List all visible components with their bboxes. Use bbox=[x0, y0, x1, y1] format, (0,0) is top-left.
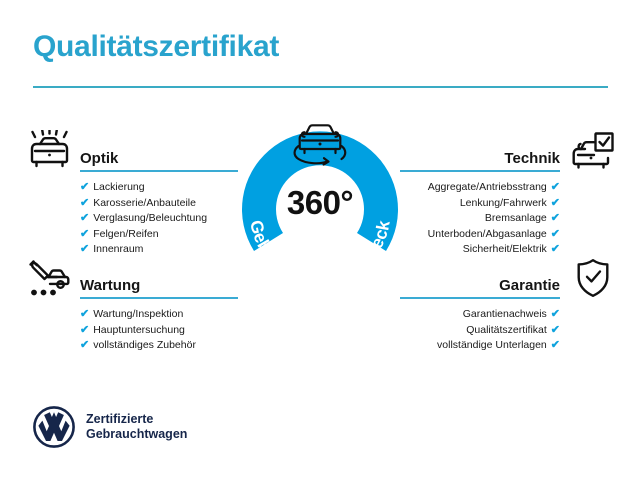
check-icon: ✔ bbox=[551, 339, 560, 351]
list-item: ✔Wartung/Inspektion bbox=[80, 307, 250, 323]
footer-brand-text: Zertifizierte Gebrauchtwagen bbox=[86, 412, 187, 442]
list-item-label: Lackierung bbox=[93, 181, 144, 193]
badge-value: 360° bbox=[228, 184, 412, 222]
list-item-label: Verglasung/Beleuchtung bbox=[93, 212, 207, 224]
volkswagen-logo bbox=[33, 406, 75, 448]
list-item: ✔Hauptuntersuchung bbox=[80, 323, 250, 339]
car-rotate-360-icon bbox=[286, 112, 354, 170]
section-title-garantie: Garantie bbox=[499, 277, 560, 294]
section-title-technik: Technik bbox=[504, 150, 560, 167]
footer-line-1: Zertifizierte bbox=[86, 412, 187, 427]
list-item-label: Lenkung/Fahrwerk bbox=[460, 197, 547, 209]
list-item-label: Wartung/Inspektion bbox=[93, 308, 183, 320]
list-item-label: Bremsanlage bbox=[485, 212, 547, 224]
section-optik: Optik ✔Lackierung ✔Karosserie/Anbauteile… bbox=[0, 146, 250, 258]
section-divider-optik bbox=[80, 170, 238, 172]
list-item: Bremsanlage✔ bbox=[390, 211, 560, 227]
section-wartung: Wartung ✔Wartung/Inspektion ✔Hauptunters… bbox=[0, 273, 250, 354]
checklist-garantie: Garantienachweis✔ Qualitätszertifikat✔ v… bbox=[390, 307, 560, 354]
list-item: ✔Lackierung bbox=[80, 180, 250, 196]
check-icon: ✔ bbox=[80, 228, 89, 240]
section-divider-wartung bbox=[80, 297, 238, 299]
list-item: vollständige Unterlagen✔ bbox=[390, 338, 560, 354]
check-icon: ✔ bbox=[80, 324, 89, 336]
check-icon: ✔ bbox=[80, 212, 89, 224]
check-icon: ✔ bbox=[80, 197, 89, 209]
list-item-label: Karosserie/Anbauteile bbox=[93, 197, 196, 209]
certificate-page: Qualitätszertifikat Optik ✔Lackie bbox=[0, 0, 640, 480]
list-item: ✔vollständiges Zubehör bbox=[80, 338, 250, 354]
section-garantie: Garantie Garantienachweis✔ Qualitätszert… bbox=[390, 273, 640, 354]
list-item: Sicherheit/Elektrik✔ bbox=[390, 242, 560, 258]
check-icon: ✔ bbox=[551, 181, 560, 193]
check-icon: ✔ bbox=[551, 197, 560, 209]
check-icon: ✔ bbox=[80, 339, 89, 351]
check-icon: ✔ bbox=[551, 308, 560, 320]
gebrauchtwagen-check-badge: Gebrauchtwagen-Check 360° bbox=[228, 122, 412, 306]
list-item-label: vollständiges Zubehör bbox=[93, 339, 196, 351]
section-technik: Technik Aggregate/Antriebsstrang✔ Lenkun… bbox=[390, 146, 640, 258]
list-item-label: Qualitätszertifikat bbox=[466, 324, 547, 336]
checklist-optik: ✔Lackierung ✔Karosserie/Anbauteile ✔Verg… bbox=[80, 180, 250, 258]
list-item-label: vollständige Unterlagen bbox=[437, 339, 547, 351]
checklist-technik: Aggregate/Antriebsstrang✔ Lenkung/Fahrwe… bbox=[390, 180, 560, 258]
list-item-label: Felgen/Reifen bbox=[93, 228, 158, 240]
page-title: Qualitätszertifikat bbox=[33, 30, 279, 63]
list-item: ✔Karosserie/Anbauteile bbox=[80, 196, 250, 212]
check-icon: ✔ bbox=[551, 212, 560, 224]
list-item-label: Hauptuntersuchung bbox=[93, 324, 185, 336]
check-icon: ✔ bbox=[551, 243, 560, 255]
list-item: Aggregate/Antriebsstrang✔ bbox=[390, 180, 560, 196]
check-icon: ✔ bbox=[551, 324, 560, 336]
list-item-label: Garantienachweis bbox=[463, 308, 547, 320]
list-item: Qualitätszertifikat✔ bbox=[390, 323, 560, 339]
section-divider-garantie bbox=[400, 297, 560, 299]
list-item: Unterboden/Abgasanlage✔ bbox=[390, 227, 560, 243]
check-icon: ✔ bbox=[551, 228, 560, 240]
check-icon: ✔ bbox=[80, 243, 89, 255]
footer-line-2: Gebrauchtwagen bbox=[86, 427, 187, 442]
checklist-wartung: ✔Wartung/Inspektion ✔Hauptuntersuchung ✔… bbox=[80, 307, 250, 354]
check-icon: ✔ bbox=[80, 181, 89, 193]
list-item: ✔Innenraum bbox=[80, 242, 250, 258]
list-item-label: Sicherheit/Elektrik bbox=[463, 243, 547, 255]
list-item-label: Innenraum bbox=[93, 243, 143, 255]
check-icon: ✔ bbox=[80, 308, 89, 320]
list-item: ✔Felgen/Reifen bbox=[80, 227, 250, 243]
list-item-label: Unterboden/Abgasanlage bbox=[428, 228, 547, 240]
section-title-optik: Optik bbox=[80, 150, 118, 167]
section-title-wartung: Wartung bbox=[80, 277, 140, 294]
header-divider bbox=[33, 86, 608, 88]
list-item-label: Aggregate/Antriebsstrang bbox=[428, 181, 547, 193]
list-item: ✔Verglasung/Beleuchtung bbox=[80, 211, 250, 227]
list-item: Garantienachweis✔ bbox=[390, 307, 560, 323]
list-item: Lenkung/Fahrwerk✔ bbox=[390, 196, 560, 212]
section-divider-technik bbox=[400, 170, 560, 172]
